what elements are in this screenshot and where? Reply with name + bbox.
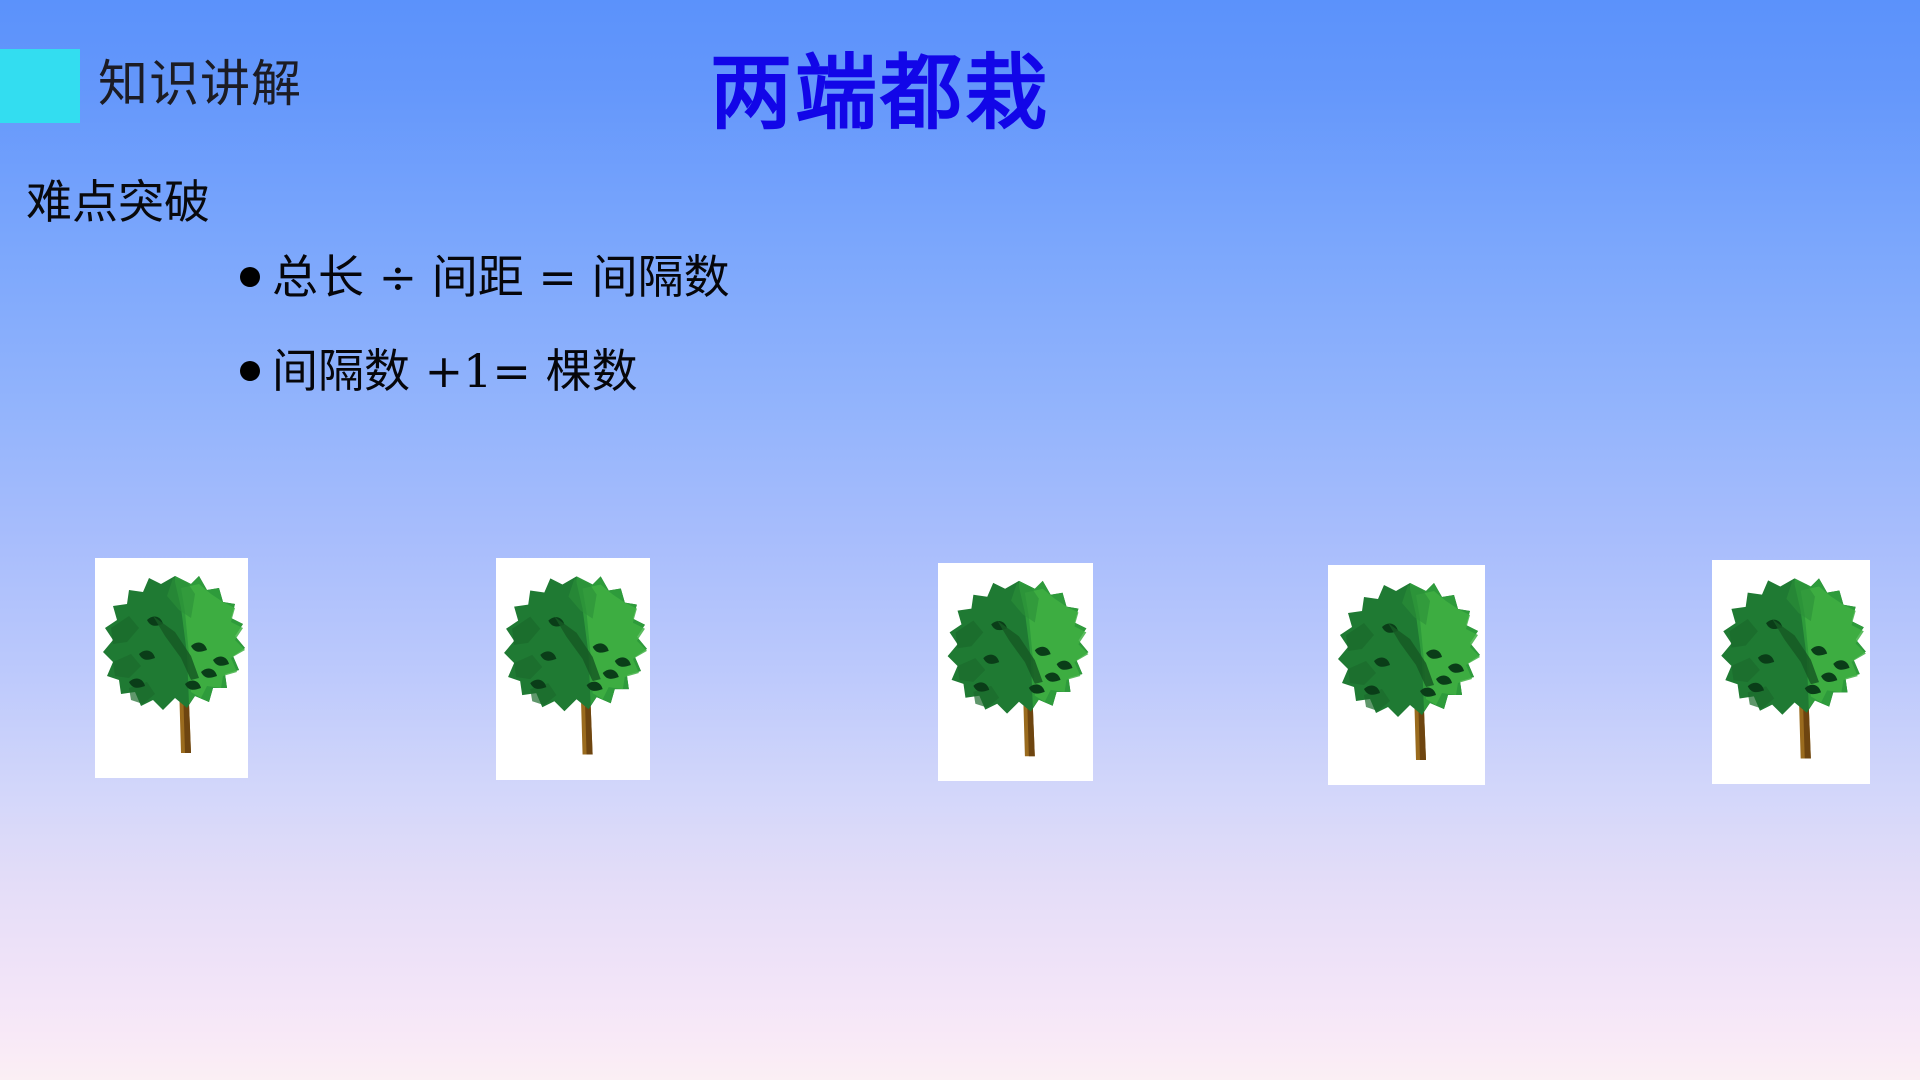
bullet-item-2: 间隔数 +1= 棵数 (240, 342, 638, 400)
tree-icon (1328, 565, 1485, 785)
tree-image-1 (95, 558, 248, 778)
bullet-dot-icon (240, 267, 260, 287)
bullet-dot-icon (240, 361, 260, 381)
tree-image-3 (938, 563, 1093, 781)
page-title: 两端都栽 (710, 42, 1050, 146)
slide-canvas: 知识讲解 两端都栽 难点突破 总长 ÷ 间距 = 间隔数 间隔数 +1= 棵数 (0, 0, 1920, 1080)
subheading: 难点突破 (26, 174, 210, 230)
tree-image-5 (1712, 560, 1870, 784)
tree-icon (1712, 560, 1870, 784)
tree-icon (938, 563, 1093, 781)
bullet-text: 总长 ÷ 间距 = 间隔数 (272, 248, 730, 306)
accent-block (0, 49, 80, 123)
tree-icon (95, 558, 248, 778)
bullet-item-1: 总长 ÷ 间距 = 间隔数 (240, 248, 730, 306)
bullet-text: 间隔数 +1= 棵数 (272, 342, 638, 400)
tree-icon (496, 558, 650, 780)
section-label: 知识讲解 (98, 52, 302, 116)
tree-image-4 (1328, 565, 1485, 785)
tree-image-2 (496, 558, 650, 780)
